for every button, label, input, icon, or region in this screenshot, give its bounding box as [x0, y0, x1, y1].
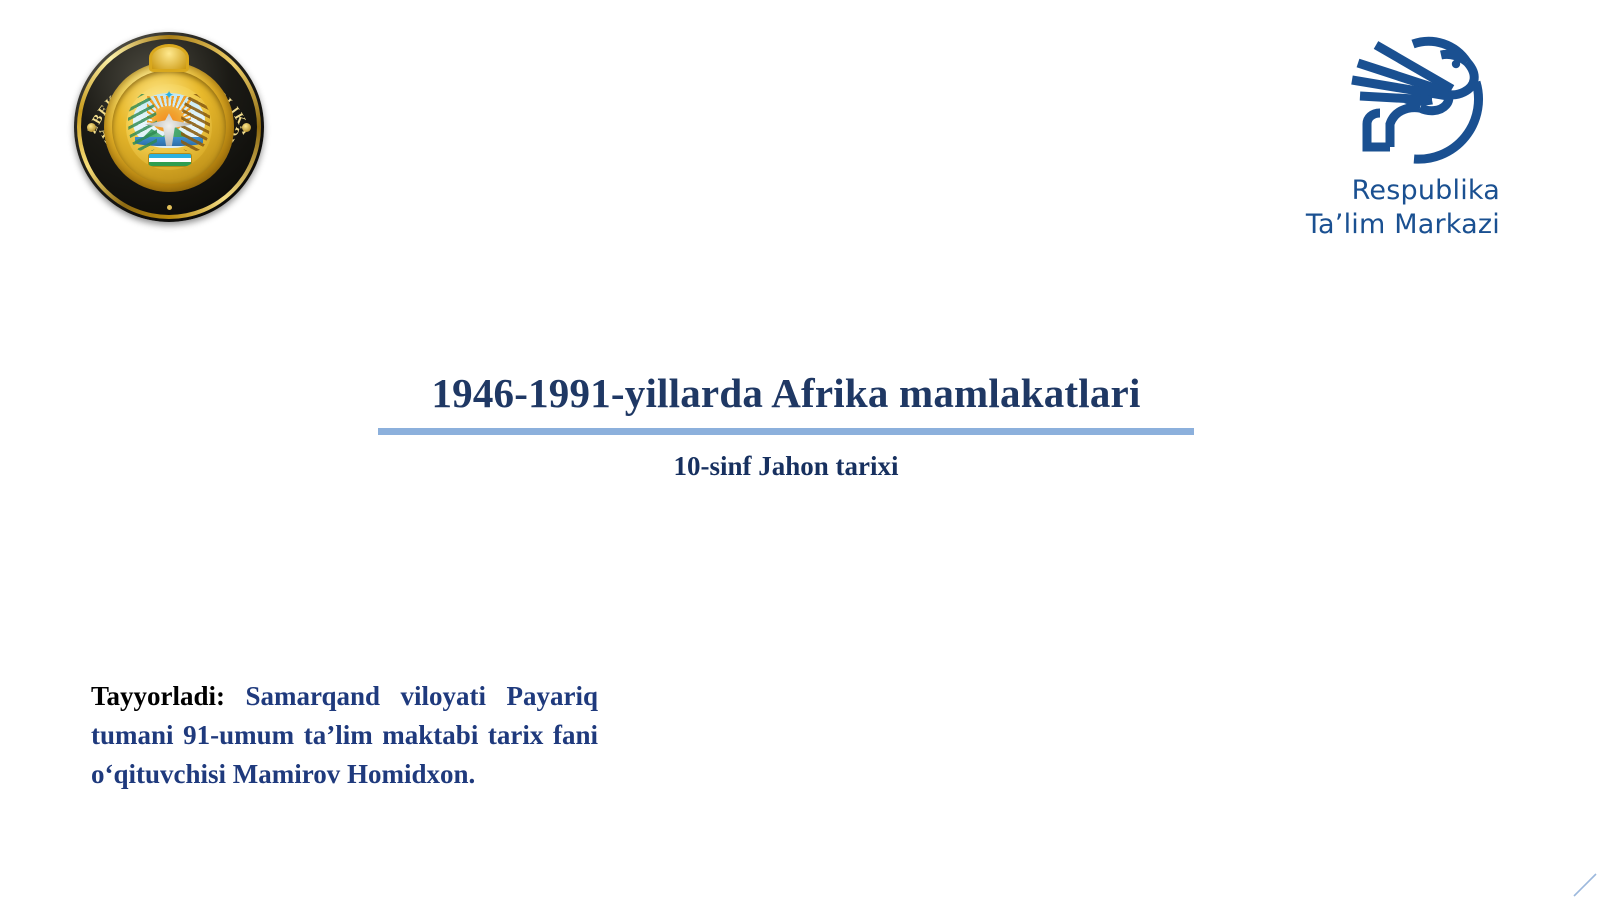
title-underline-rule [378, 428, 1194, 435]
page-subtitle: 10-sinf Jahon tarixi [378, 447, 1194, 485]
title-block: 1946-1991-yillarda Afrika mamlakatlari [378, 368, 1194, 435]
respublika-talim-markazi-logo: Respublika Ta’lim Markazi [1300, 26, 1510, 236]
author-credit: Tayyorladi: Samarqand viloyati Payariq t… [91, 677, 598, 794]
emblem-crown-ornament [149, 44, 189, 72]
uzbekistan-ministry-emblem: O‘ZBEKISTON RESPUBLIKASI XALQ TA’LIMI VA… [74, 32, 264, 222]
emblem-right-stud [242, 123, 251, 132]
presentation-slide: O‘ZBEKISTON RESPUBLIKASI XALQ TA’LIMI VA… [0, 0, 1600, 899]
author-lead-label: Tayyorladi: [91, 681, 225, 711]
logo-caption-line-2: Ta’lim Markazi [1300, 208, 1500, 242]
coat-of-arms-flag-ribbon [148, 153, 191, 166]
logo-caption: Respublika Ta’lim Markazi [1300, 174, 1500, 242]
emblem-bottom-dot [167, 205, 172, 210]
dove-eye-icon [1452, 60, 1460, 68]
coat-of-arms: ✦ [126, 84, 212, 170]
emblem-left-stud [87, 123, 96, 132]
coat-of-arms-cotton-branch [128, 94, 157, 151]
dove-bird-icon [1310, 26, 1495, 166]
logo-caption-line-1: Respublika [1300, 174, 1500, 208]
coat-of-arms-star-icon: ✦ [164, 89, 174, 99]
corner-diagonal-mark [1572, 872, 1598, 898]
coat-of-arms-wheat-ears [181, 94, 210, 151]
page-title: 1946-1991-yillarda Afrika mamlakatlari [378, 368, 1194, 418]
